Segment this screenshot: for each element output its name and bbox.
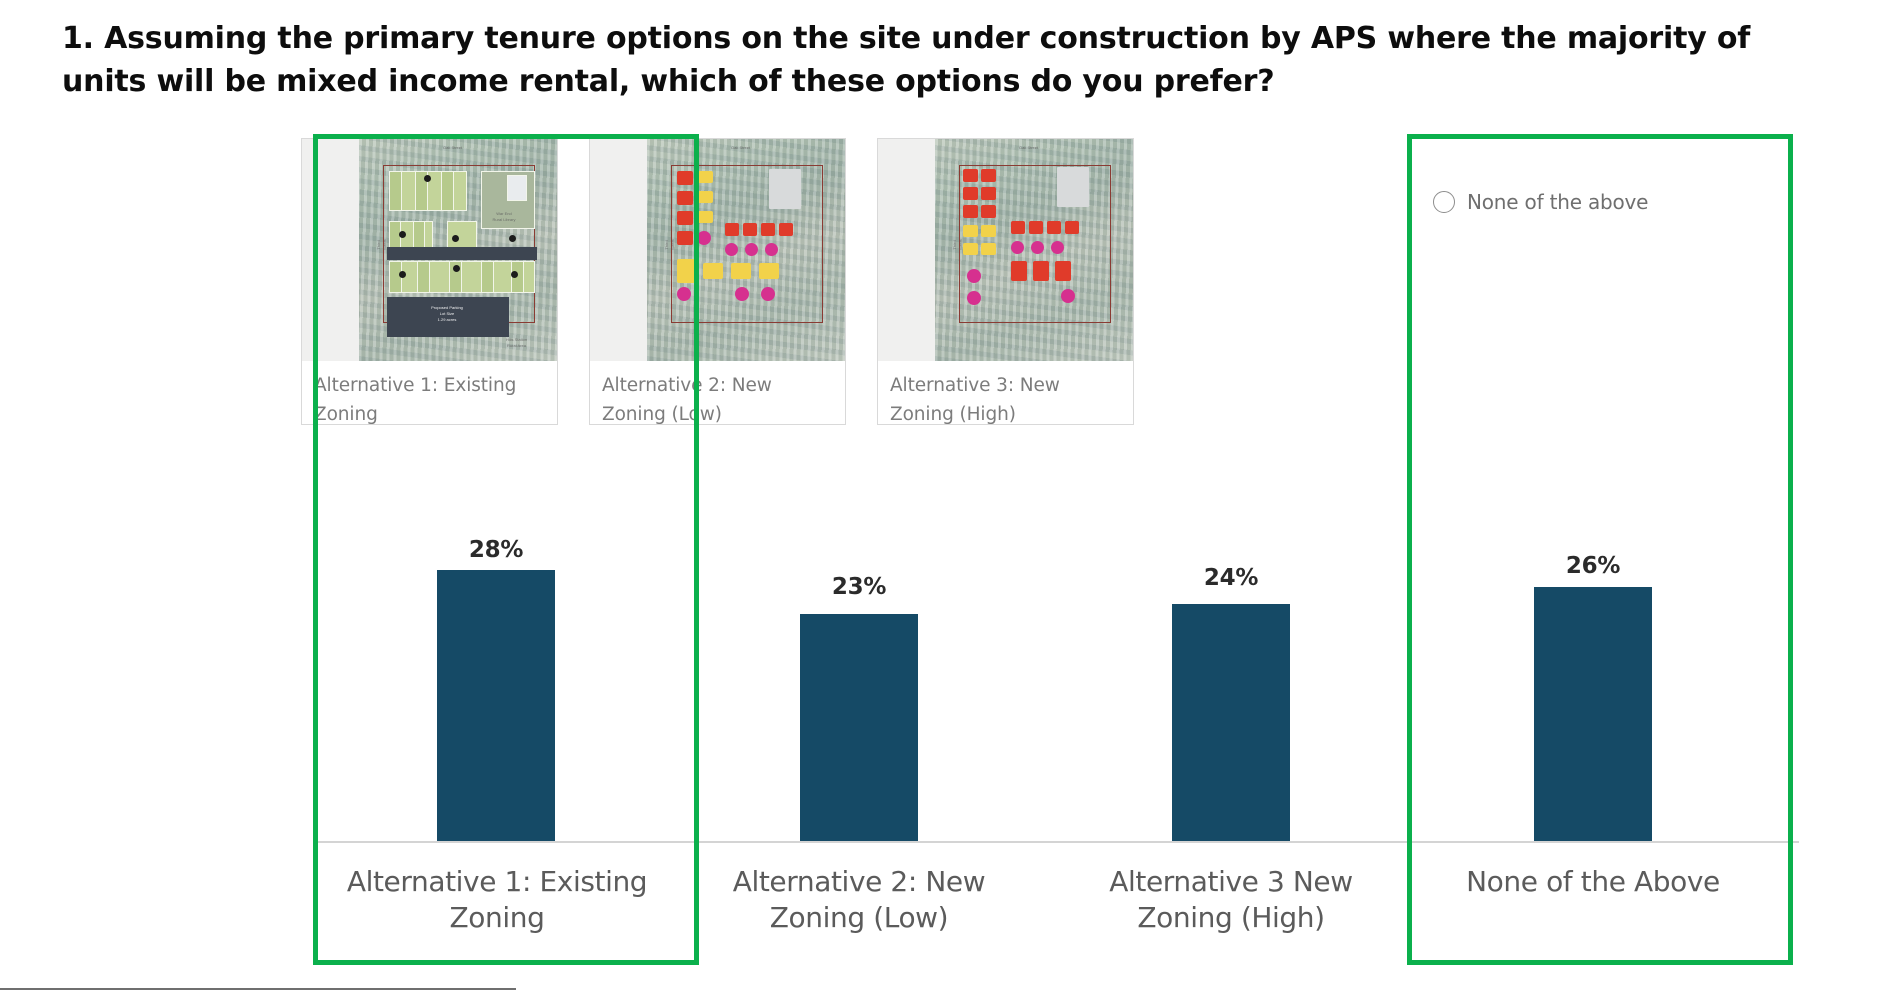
chart-x-axis-line	[317, 841, 1799, 843]
preference-bar-chart: 28% Alternative 1: Existing Zoning 23% A…	[0, 0, 1885, 996]
bar-category-label: Alternative 1: Existing Zoning	[338, 864, 656, 936]
bar-value-label: 28%	[437, 537, 555, 563]
bar-value-label: 23%	[800, 574, 918, 600]
bar-value-label: 24%	[1172, 565, 1290, 591]
bar-category-label: None of the Above	[1434, 864, 1752, 900]
bar-none-of-the-above	[1534, 587, 1652, 841]
bar-alternative-1	[437, 570, 555, 841]
bar-category-label: Alternative 3 New Zoning (High)	[1072, 864, 1390, 936]
footer-divider	[0, 988, 516, 990]
bar-value-label: 26%	[1534, 553, 1652, 579]
bar-alternative-2	[800, 614, 918, 841]
bar-alternative-3	[1172, 604, 1290, 841]
bar-category-label: Alternative 2: New Zoning (Low)	[700, 864, 1018, 936]
